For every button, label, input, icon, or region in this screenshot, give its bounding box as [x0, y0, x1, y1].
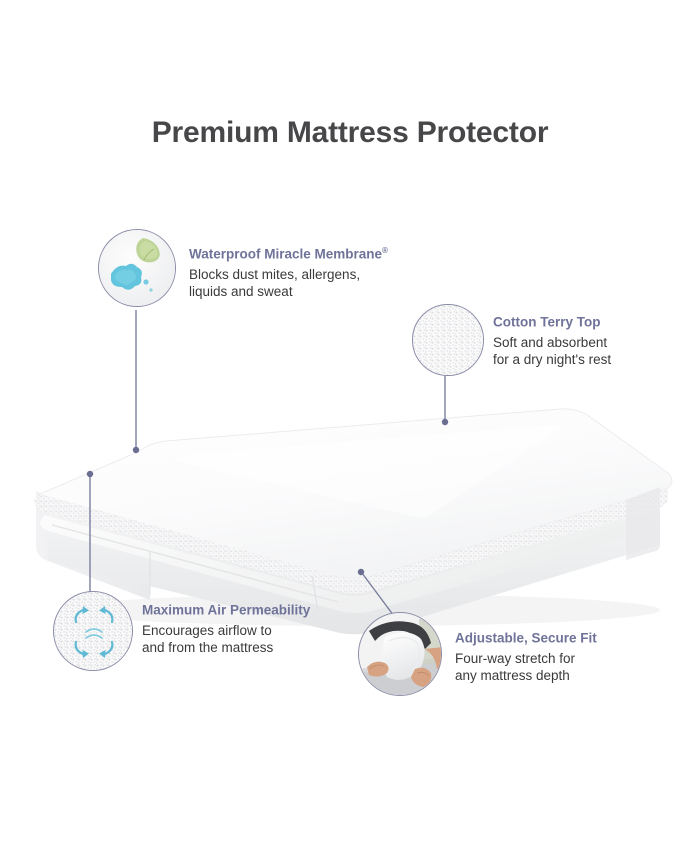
- callout-text-adjustable-fit: Adjustable, Secure Fit Four-way stretch …: [455, 626, 675, 685]
- callout-body: Encourages airflow to and from the mattr…: [142, 622, 372, 657]
- callout-body: Four-way stretch for any mattress depth: [455, 650, 675, 685]
- callout-body: Blocks dust mites, allergens, liquids an…: [189, 266, 459, 301]
- airflow-circulation-icon: [53, 591, 133, 671]
- callout-text-waterproof: Waterproof Miracle Membrane® Blocks dust…: [189, 242, 459, 301]
- callout-heading: Waterproof Miracle Membrane®: [189, 242, 459, 264]
- hands-fitting-protector-icon: [358, 612, 442, 696]
- product-infographic: Premium Mattress Protector: [0, 0, 700, 855]
- page-title: Premium Mattress Protector: [0, 116, 700, 150]
- callout-heading: Adjustable, Secure Fit: [455, 626, 675, 648]
- liquid-droplet-membrane-icon: [98, 229, 176, 307]
- registered-mark-icon: ®: [382, 246, 388, 255]
- callout-heading: Cotton Terry Top: [493, 310, 693, 332]
- callout-text-cotton-terry: Cotton Terry Top Soft and absorbent for …: [493, 310, 693, 369]
- callout-heading: Maximum Air Permeability: [142, 598, 372, 620]
- callout-body: Soft and absorbent for a dry night's res…: [493, 334, 693, 369]
- callout-text-air-permeability: Maximum Air Permeability Encourages airf…: [142, 598, 372, 657]
- terry-fabric-texture-icon: [412, 304, 484, 376]
